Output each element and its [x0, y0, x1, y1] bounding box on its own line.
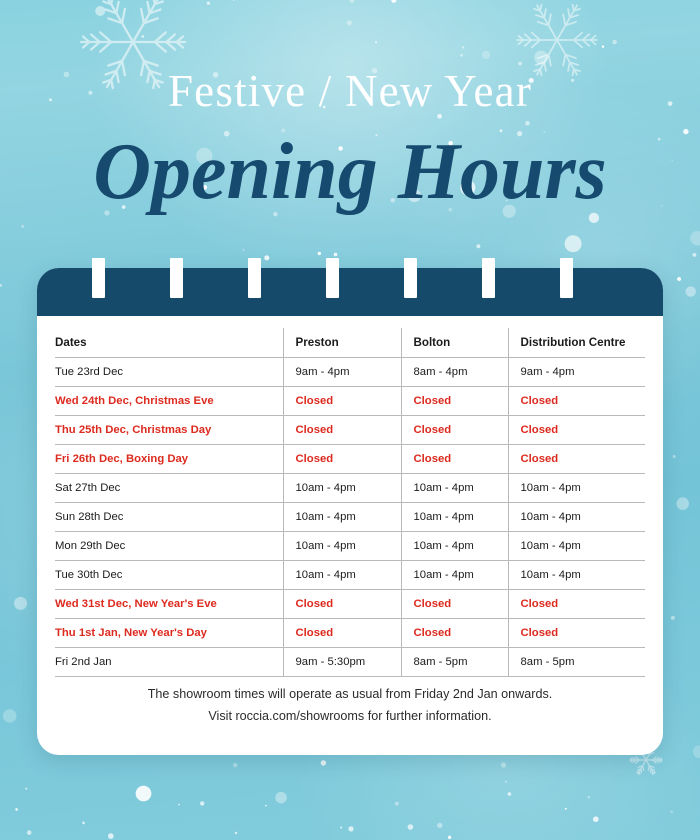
row-bolton-hours: 10am - 4pm [401, 560, 508, 589]
column-header-distribution-centre: Distribution Centre [508, 328, 645, 357]
row-preston-hours: 10am - 4pm [283, 473, 401, 502]
row-bolton-hours: 10am - 4pm [401, 473, 508, 502]
table-header-row: Dates Preston Bolton Distribution Centre [55, 328, 645, 357]
row-preston-hours: Closed [283, 415, 401, 444]
table-row: Tue 30th Dec10am - 4pm10am - 4pm10am - 4… [55, 560, 645, 589]
row-date: Mon 29th Dec [55, 531, 283, 560]
binding-tab [560, 258, 573, 298]
row-preston-hours: Closed [283, 386, 401, 415]
row-distribution-centre-hours: 10am - 4pm [508, 502, 645, 531]
table-row: Fri 2nd Jan9am - 5:30pm8am - 5pm8am - 5p… [55, 647, 645, 676]
row-date: Thu 25th Dec, Christmas Day [55, 415, 283, 444]
row-distribution-centre-hours: 10am - 4pm [508, 531, 645, 560]
row-distribution-centre-hours: Closed [508, 415, 645, 444]
footer-note-line-2: Visit roccia.com/showrooms for further i… [37, 705, 663, 727]
hours-table-container: Dates Preston Bolton Distribution Centre… [55, 328, 645, 677]
row-preston-hours: Closed [283, 444, 401, 473]
row-bolton-hours: 10am - 4pm [401, 531, 508, 560]
row-distribution-centre-hours: Closed [508, 618, 645, 647]
row-preston-hours: 9am - 5:30pm [283, 647, 401, 676]
hours-table-body: Tue 23rd Dec9am - 4pm8am - 4pm9am - 4pmW… [55, 357, 645, 676]
row-preston-hours: 9am - 4pm [283, 357, 401, 386]
row-bolton-hours: Closed [401, 589, 508, 618]
column-header-preston: Preston [283, 328, 401, 357]
row-preston-hours: Closed [283, 618, 401, 647]
row-date: Fri 2nd Jan [55, 647, 283, 676]
row-bolton-hours: Closed [401, 386, 508, 415]
poster-background: Festive / New Year Opening Hours Dates P… [0, 0, 700, 840]
table-row: Sun 28th Dec10am - 4pm10am - 4pm10am - 4… [55, 502, 645, 531]
row-distribution-centre-hours: 10am - 4pm [508, 473, 645, 502]
opening-hours-table: Dates Preston Bolton Distribution Centre… [55, 328, 645, 677]
row-bolton-hours: Closed [401, 415, 508, 444]
row-date: Sat 27th Dec [55, 473, 283, 502]
row-date: Tue 30th Dec [55, 560, 283, 589]
row-distribution-centre-hours: 10am - 4pm [508, 560, 645, 589]
binding-tab [248, 258, 261, 298]
card-footer: The showroom times will operate as usual… [37, 683, 663, 727]
binding-tab [482, 258, 495, 298]
table-row: Sat 27th Dec10am - 4pm10am - 4pm10am - 4… [55, 473, 645, 502]
row-date: Thu 1st Jan, New Year's Day [55, 618, 283, 647]
row-distribution-centre-hours: 9am - 4pm [508, 357, 645, 386]
page-title-eyebrow: Festive / New Year [0, 66, 700, 116]
binding-tab [170, 258, 183, 298]
table-row: Fri 26th Dec, Boxing DayClosedClosedClos… [55, 444, 645, 473]
page-title: Opening Hours [0, 126, 700, 218]
row-preston-hours: Closed [283, 589, 401, 618]
row-date: Fri 26th Dec, Boxing Day [55, 444, 283, 473]
row-bolton-hours: Closed [401, 618, 508, 647]
binding-tab [404, 258, 417, 298]
row-date: Sun 28th Dec [55, 502, 283, 531]
table-row: Thu 25th Dec, Christmas DayClosedClosedC… [55, 415, 645, 444]
footer-note-line-1: The showroom times will operate as usual… [37, 683, 663, 705]
column-header-bolton: Bolton [401, 328, 508, 357]
row-bolton-hours: 10am - 4pm [401, 502, 508, 531]
table-row: Mon 29th Dec10am - 4pm10am - 4pm10am - 4… [55, 531, 645, 560]
hours-card: Dates Preston Bolton Distribution Centre… [37, 268, 663, 755]
row-date: Wed 24th Dec, Christmas Eve [55, 386, 283, 415]
row-preston-hours: 10am - 4pm [283, 531, 401, 560]
row-bolton-hours: Closed [401, 444, 508, 473]
row-distribution-centre-hours: Closed [508, 589, 645, 618]
row-bolton-hours: 8am - 4pm [401, 357, 508, 386]
table-row: Wed 31st Dec, New Year's EveClosedClosed… [55, 589, 645, 618]
column-header-dates: Dates [55, 328, 283, 357]
row-bolton-hours: 8am - 5pm [401, 647, 508, 676]
row-distribution-centre-hours: Closed [508, 386, 645, 415]
row-preston-hours: 10am - 4pm [283, 560, 401, 589]
snowflake-top-right [517, 5, 597, 76]
row-date: Wed 31st Dec, New Year's Eve [55, 589, 283, 618]
table-row: Thu 1st Jan, New Year's DayClosedClosedC… [55, 618, 645, 647]
table-row: Tue 23rd Dec9am - 4pm8am - 4pm9am - 4pm [55, 357, 645, 386]
row-distribution-centre-hours: Closed [508, 444, 645, 473]
binding-tab [92, 258, 105, 298]
row-date: Tue 23rd Dec [55, 357, 283, 386]
row-distribution-centre-hours: 8am - 5pm [508, 647, 645, 676]
binding-tab [326, 258, 339, 298]
table-row: Wed 24th Dec, Christmas EveClosedClosedC… [55, 386, 645, 415]
row-preston-hours: 10am - 4pm [283, 502, 401, 531]
